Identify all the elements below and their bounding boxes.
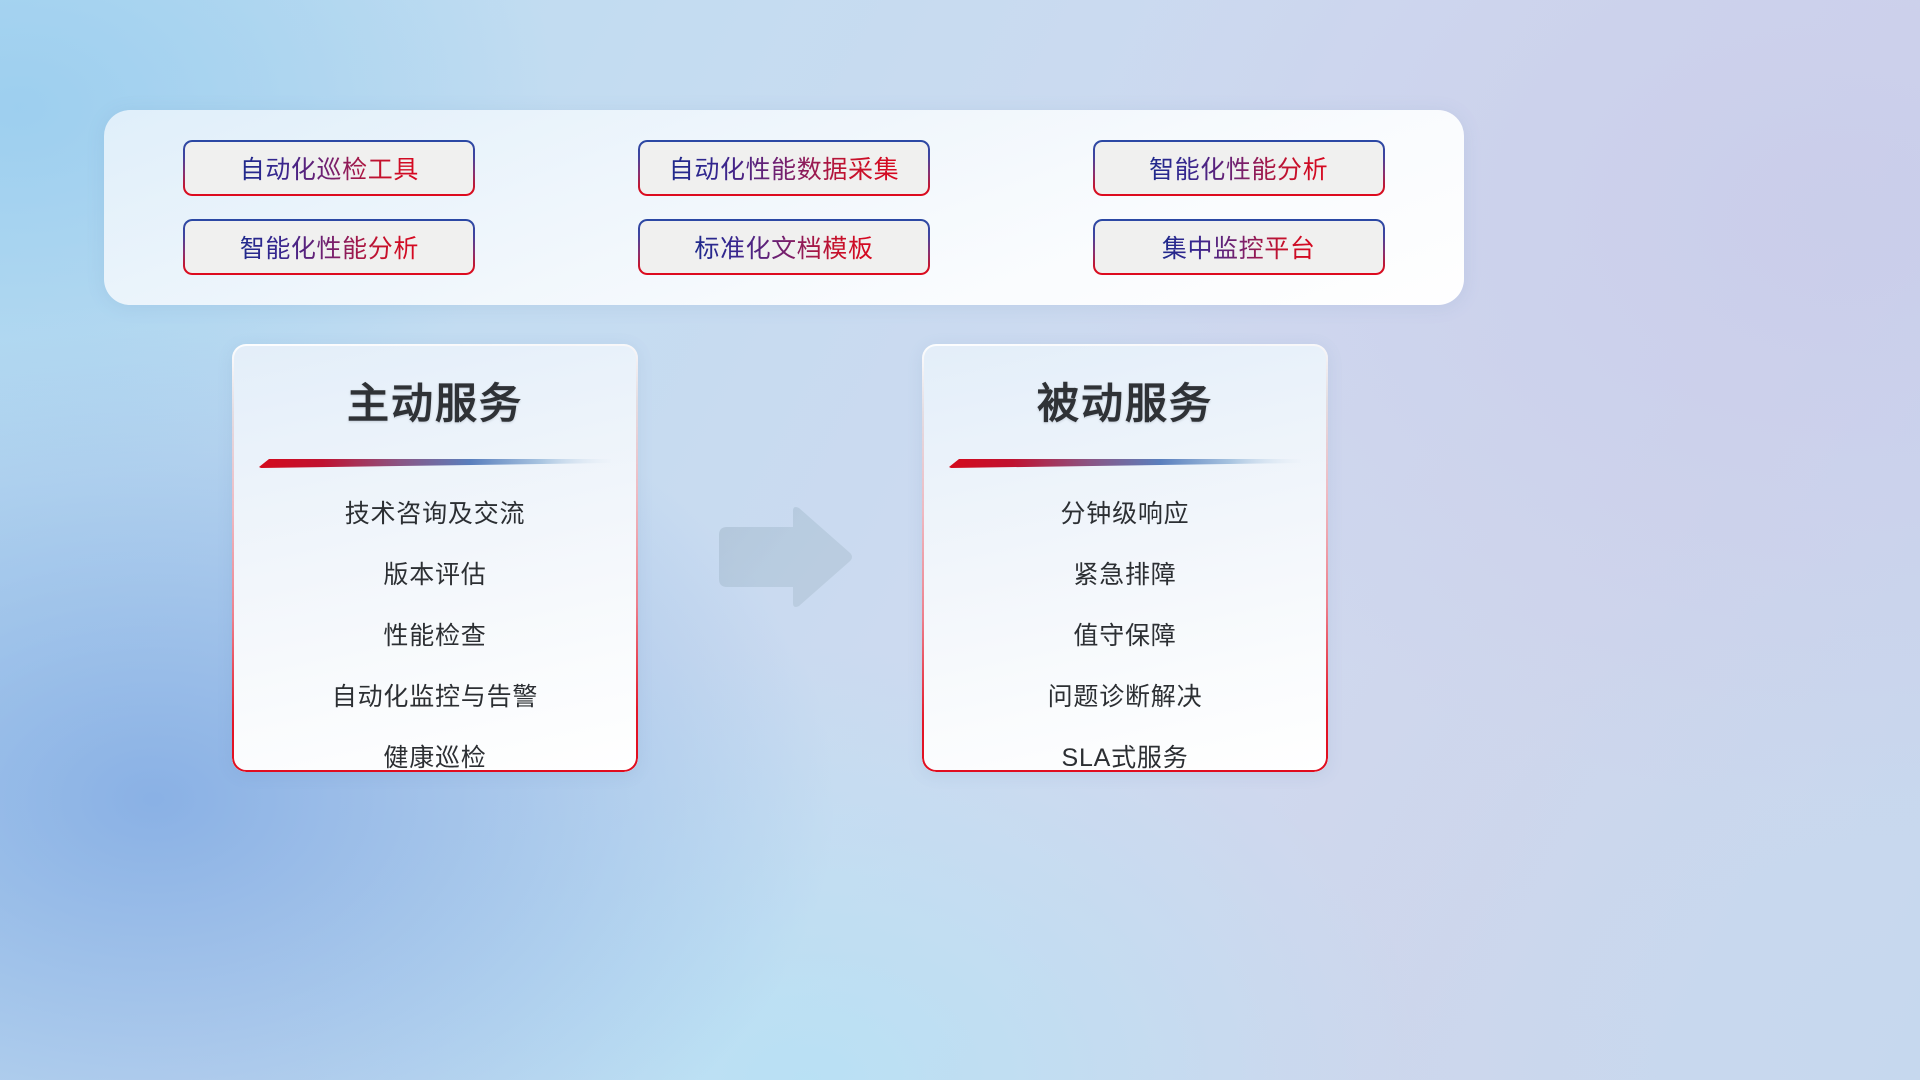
capability-pill[interactable]: 自动化巡检工具 [183,140,475,196]
service-item-list: 分钟级响应 紧急排障 值守保障 问题诊断解决 SLA式服务 [922,494,1328,772]
service-list-item: 性能检查 [383,616,486,652]
capability-pill-label: 智能化性能分析 [1149,150,1328,186]
service-list-item: 自动化监控与告警 [332,677,538,713]
service-list-item: 紧急排障 [1073,555,1176,591]
capability-pill[interactable]: 智能化性能分析 [183,219,475,275]
capability-pill-label: 标准化文档模板 [694,229,873,265]
arrow-right-icon [715,505,855,610]
service-list-item: 版本评估 [383,555,486,591]
service-card-passive: 被动服务 分钟级响应 紧急排障 值守保障 [922,344,1328,772]
service-list-item: 分钟级响应 [1060,494,1189,530]
service-list-item: 值守保障 [1073,616,1176,652]
capability-pill-label: 自动化巡检工具 [240,150,419,186]
capability-panel: 自动化巡检工具 自动化性能数据采集 智能化性能分析 智能化性能分析 标准化文档模… [104,110,1464,305]
card-title-divider [259,455,611,468]
capability-pill-label: 智能化性能分析 [240,229,419,265]
service-list-item: 问题诊断解决 [1048,677,1203,713]
capability-pill-grid: 自动化巡检工具 自动化性能数据采集 智能化性能分析 智能化性能分析 标准化文档模… [104,110,1464,305]
service-card-active: 主动服务 技术咨询及交流 版本评估 性能检查 [232,344,638,772]
service-card-title: 主动服务 [232,370,638,431]
capability-pill[interactable]: 智能化性能分析 [1093,140,1385,196]
capability-pill-label: 自动化性能数据采集 [669,150,899,186]
service-card-title: 被动服务 [922,370,1328,431]
capability-pill-label: 集中监控平台 [1162,229,1316,265]
service-item-list: 技术咨询及交流 版本评估 性能检查 自动化监控与告警 健康巡检 [232,494,638,772]
service-list-item: 技术咨询及交流 [345,494,526,530]
diagram-canvas: 自动化巡检工具 自动化性能数据采集 智能化性能分析 智能化性能分析 标准化文档模… [0,0,1920,1080]
capability-pill[interactable]: 集中监控平台 [1093,219,1385,275]
capability-pill[interactable]: 标准化文档模板 [638,219,930,275]
card-title-divider [949,455,1301,468]
service-list-item: SLA式服务 [1061,738,1188,772]
capability-pill[interactable]: 自动化性能数据采集 [638,140,930,196]
service-list-item: 健康巡检 [383,738,486,772]
